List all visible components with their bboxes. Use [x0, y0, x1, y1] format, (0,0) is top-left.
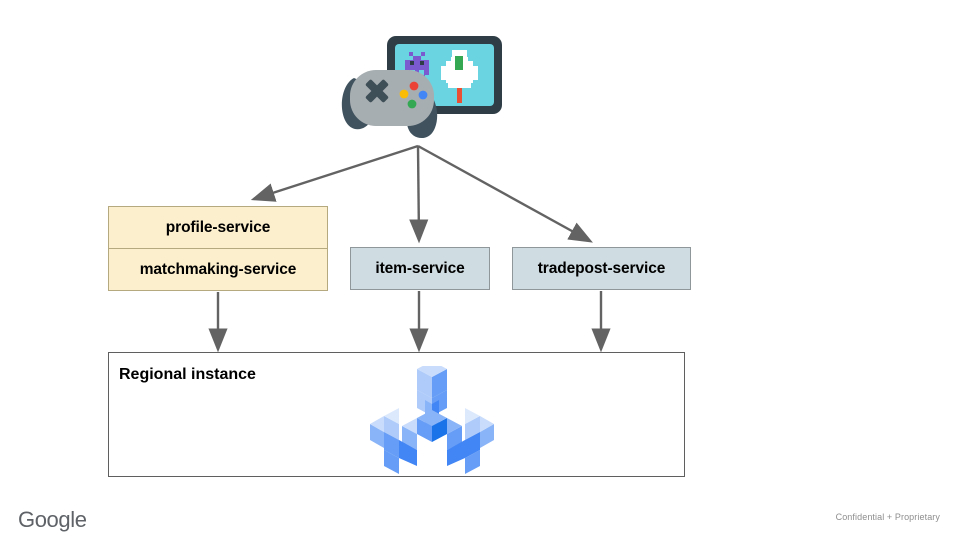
- google-logo: Google: [18, 505, 138, 535]
- service-label: item-service: [375, 260, 464, 278]
- rocket-flame: [457, 88, 462, 103]
- service-box-item[interactable]: item-service: [350, 247, 490, 290]
- service-box-profile[interactable]: profile-service: [108, 206, 328, 249]
- arrow-game-to-tradepost: [418, 146, 590, 241]
- regional-instance-label: Regional instance: [119, 366, 256, 384]
- cluster-node-icon: [362, 366, 502, 476]
- service-label: profile-service: [166, 219, 270, 237]
- service-label: matchmaking-service: [140, 261, 297, 279]
- arrow-game-to-profile: [254, 146, 418, 199]
- service-box-matchmaking[interactable]: matchmaking-service: [108, 248, 328, 291]
- slide-canvas: profile-service matchmaking-service item…: [0, 0, 960, 540]
- regional-instance-container[interactable]: Regional instance: [108, 352, 685, 477]
- google-logo-text: Google: [18, 507, 87, 532]
- confidential-note: Confidential + Proprietary: [836, 512, 940, 522]
- game-console-icon: [338, 30, 508, 148]
- service-label: tradepost-service: [538, 260, 666, 278]
- arrow-game-to-item: [418, 146, 419, 240]
- rocket-window: [455, 56, 463, 70]
- service-box-tradepost[interactable]: tradepost-service: [512, 247, 691, 290]
